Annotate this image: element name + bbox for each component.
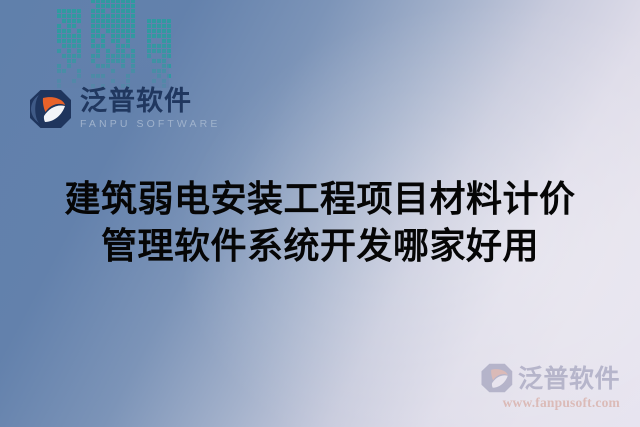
skyline-pixel [62,34,66,38]
skyline-pixel [131,74,135,78]
skyline-pixel [162,19,166,23]
skyline-pixel [121,59,125,63]
skyline-pixel [96,9,100,13]
skyline-pixel [116,59,120,63]
skyline-pixel [167,34,171,38]
skyline-pixel [147,34,151,38]
skyline-pixel [106,29,110,33]
watermark-url: www.fanpusoft.com [480,395,620,411]
skyline-pixel [126,39,130,43]
skyline-pixel [147,69,151,73]
skyline-pixel [77,39,81,43]
skyline-pixel [162,34,166,38]
skyline-pixel [152,49,156,53]
skyline-pixel [67,19,71,23]
skyline-pixel [106,54,110,58]
skyline-pixel [67,64,71,68]
skyline-pixel [147,19,151,23]
watermark-name-cn: 泛普软件 [518,366,620,391]
skyline-pixel [116,14,120,18]
skyline-pixel [96,49,100,53]
skyline-pixel [116,39,120,43]
skyline-pixel [77,44,81,48]
skyline-pixel [121,19,125,23]
skyline-pixel [111,39,115,43]
skyline-pixel [101,34,105,38]
skyline-pixel [57,79,61,83]
skyline-pixel [106,24,110,28]
skyline-pixel [167,54,171,58]
skyline-pixel [126,34,130,38]
headline-block: 建筑弱电安装工程项目材料计价 管理软件系统开发哪家好用 [0,176,640,270]
skyline-pixel [121,79,125,83]
skyline-pixel [131,69,135,73]
skyline-pixel [106,59,110,63]
skyline-pixel [126,64,130,68]
skyline-pixel [147,44,151,48]
skyline-pixel [131,14,135,18]
skyline-pixel [147,59,151,63]
skyline-pixel [101,44,105,48]
skyline-pixel [57,64,61,68]
skyline-pixel [57,29,61,33]
skyline-pixel [62,9,66,13]
skyline-pixel [126,4,130,8]
skyline-pixel [96,29,100,33]
skyline-pixel [106,34,110,38]
skyline-pixel [111,14,115,18]
skyline-pixel [162,79,166,83]
skyline-pixel [77,69,81,73]
skyline-pixel [131,29,135,33]
skyline-pixel [96,69,100,73]
watermark-logo-row: 泛普软件 [480,363,620,393]
skyline-pixel [101,49,105,53]
skyline-pixel [121,9,125,13]
skyline-pixel [157,19,161,23]
skyline-pixel [167,29,171,33]
skyline-pixel [101,14,105,18]
skyline-pixel [67,14,71,18]
skyline-pixel [116,49,120,53]
skyline-pixel [111,74,115,78]
headline-line-2: 管理软件系统开发哪家好用 [0,223,640,270]
skyline-pixel [67,29,71,33]
skyline-pixel [111,49,115,53]
skyline-pixel [106,79,110,83]
skyline-pixel [77,74,81,78]
skyline-pixel [57,54,61,58]
skyline-pixel [57,59,61,63]
skyline-pixel [121,24,125,28]
brand-wordmark: 泛普软件 FANPU SOFTWARE [80,88,220,130]
skyline-pixel [157,39,161,43]
skyline-pixel [162,64,166,68]
skyline-pixel [111,34,115,38]
skyline-pixel [116,44,120,48]
skyline-pixel [116,54,120,58]
skyline-pixel [126,24,130,28]
skyline-pixel [131,79,135,83]
skyline-pixel [62,14,66,18]
skyline-pixel [72,19,76,23]
skyline-pixel [106,64,110,68]
skyline-pixel [91,54,95,58]
skyline-pixel [157,29,161,33]
skyline-pixel [121,64,125,68]
skyline-pixel [126,49,130,53]
skyline-pixel [106,9,110,13]
skyline-pixel [152,54,156,58]
skyline-pixel [111,44,115,48]
skyline-pixel [72,44,76,48]
skyline-pixel [126,69,130,73]
pixel-skyline-icon [57,0,169,88]
skyline-pixel [121,4,125,8]
skyline-pixel [91,74,95,78]
skyline-pixel [162,44,166,48]
skyline-pixel [72,14,76,18]
brand-logo: 泛普软件 FANPU SOFTWARE [28,88,220,130]
skyline-pixel [96,64,100,68]
skyline-pixel [111,19,115,23]
skyline-pixel [91,34,95,38]
skyline-pixel [111,24,115,28]
skyline-pixel [96,19,100,23]
skyline-pixel [106,44,110,48]
skyline-pixel [162,29,166,33]
skyline-pixel [157,79,161,83]
skyline-pixel [152,24,156,28]
skyline-pixel [77,19,81,23]
skyline-pixel [91,79,95,83]
skyline-pixel [96,14,100,18]
skyline-pixel [157,69,161,73]
skyline-pixel [62,64,66,68]
skyline-pixel [131,59,135,63]
skyline-pixel [147,39,151,43]
skyline-pixel [147,24,151,28]
skyline-pixel [126,59,130,63]
brand-name-cn: 泛普软件 [80,88,220,115]
skyline-pixel [96,4,100,8]
skyline-pixel [126,9,130,13]
skyline-pixel [131,64,135,68]
skyline-pixel [126,74,130,78]
skyline-pixel [157,44,161,48]
skyline-pixel [91,0,95,3]
skyline-pixel [72,59,76,63]
skyline-pixel [106,4,110,8]
skyline-pixel [162,54,166,58]
skyline-pixel [77,14,81,18]
skyline-pixel [121,54,125,58]
skyline-pixel [147,64,151,68]
skyline-pixel [116,79,120,83]
skyline-pixel [131,4,135,8]
skyline-pixel [106,49,110,53]
watermark: 泛普软件 www.fanpusoft.com [480,363,620,411]
skyline-pixel [91,64,95,68]
skyline-pixel [147,49,151,53]
skyline-pixel [57,49,61,53]
skyline-pixel [167,69,171,73]
skyline-pixel [126,44,130,48]
skyline-pixel [96,0,100,3]
skyline-pixel [101,9,105,13]
promotional-banner: 泛普软件 FANPU SOFTWARE 建筑弱电安装工程项目材料计价 管理软件系… [0,0,640,427]
skyline-pixel [116,34,120,38]
skyline-pixel [152,34,156,38]
skyline-pixel [131,24,135,28]
skyline-pixel [131,49,135,53]
skyline-pixel [77,24,81,28]
skyline-pixel [57,39,61,43]
skyline-pixel [116,0,120,3]
skyline-pixel [157,64,161,68]
skyline-pixel [116,19,120,23]
skyline-pixel [67,59,71,63]
skyline-pixel [91,29,95,33]
skyline-tower-left [57,9,85,88]
skyline-pixel [91,24,95,28]
skyline-pixel [96,39,100,43]
skyline-pixel [62,29,66,33]
skyline-pixel [167,79,171,83]
skyline-pixel [57,9,61,13]
skyline-pixel [106,39,110,43]
skyline-pixel [162,59,166,63]
skyline-pixel [152,64,156,68]
skyline-pixel [77,9,81,13]
skyline-pixel [67,24,71,28]
skyline-pixel [167,74,171,78]
skyline-pixel [77,79,81,83]
skyline-pixel [62,74,66,78]
skyline-pixel [67,69,71,73]
skyline-pixel [106,14,110,18]
skyline-pixel [131,54,135,58]
skyline-pixel [157,54,161,58]
skyline-pixel [72,54,76,58]
skyline-pixel [57,14,61,18]
skyline-pixel [111,64,115,68]
brand-name-en: FANPU SOFTWARE [80,119,220,130]
skyline-pixel [157,34,161,38]
skyline-pixel [131,39,135,43]
skyline-pixel [101,69,105,73]
skyline-pixel [147,29,151,33]
skyline-pixel [77,34,81,38]
skyline-pixel [167,64,171,68]
skyline-pixel [152,29,156,33]
skyline-pixel [77,29,81,33]
skyline-pixel [157,49,161,53]
fanpu-hexagon-logo-icon [480,363,513,393]
skyline-pixel [131,9,135,13]
skyline-pixel [157,24,161,28]
skyline-pixel [96,34,100,38]
skyline-pixel [131,19,135,23]
skyline-pixel [167,59,171,63]
skyline-pixel [72,39,76,43]
skyline-pixel [111,79,115,83]
skyline-pixel [57,69,61,73]
skyline-pixel [116,4,120,8]
skyline-pixel [106,19,110,23]
skyline-pixel [62,39,66,43]
skyline-pixel [126,0,130,3]
skyline-pixel [101,24,105,28]
skyline-pixel [162,24,166,28]
skyline-pixel [101,19,105,23]
skyline-pixel [116,64,120,68]
skyline-pixel [77,49,81,53]
skyline-pixel [62,79,66,83]
skyline-pixel [62,69,66,73]
skyline-pixel [91,4,95,8]
skyline-pixel [77,54,81,58]
skyline-pixel [116,9,120,13]
skyline-pixel [67,34,71,38]
skyline-pixel [121,29,125,33]
skyline-pixel [101,59,105,63]
skyline-pixel [116,69,120,73]
skyline-pixel [126,29,130,33]
headline-line-1: 建筑弱电安装工程项目材料计价 [0,176,640,223]
skyline-pixel [111,54,115,58]
skyline-pixel [57,74,61,78]
skyline-pixel [62,59,66,63]
skyline-pixel [131,34,135,38]
skyline-pixel [121,69,125,73]
skyline-pixel [167,19,171,23]
skyline-pixel [121,49,125,53]
skyline-pixel [67,74,71,78]
skyline-pixel [57,34,61,38]
skyline-pixel [96,74,100,78]
skyline-pixel [96,59,100,63]
skyline-pixel [67,44,71,48]
skyline-pixel [72,34,76,38]
skyline-pixel [152,19,156,23]
skyline-pixel [101,54,105,58]
skyline-pixel [167,49,171,53]
skyline-pixel [111,29,115,33]
skyline-pixel [162,39,166,43]
skyline-pixel [152,69,156,73]
skyline-pixel [101,29,105,33]
skyline-pixel [152,74,156,78]
skyline-pixel [126,19,130,23]
skyline-pixel [91,19,95,23]
skyline-pixel [91,9,95,13]
skyline-pixel [106,0,110,3]
skyline-pixel [121,0,125,3]
skyline-pixel [77,59,81,63]
skyline-pixel [62,49,66,53]
fanpu-hexagon-logo-icon [28,89,72,129]
skyline-pixel [91,69,95,73]
skyline-pixel [91,14,95,18]
skyline-pixel [126,14,130,18]
skyline-pixel [106,69,110,73]
skyline-pixel [62,24,66,28]
skyline-pixel [72,69,76,73]
skyline-pixel [96,54,100,58]
skyline-pixel [147,54,151,58]
skyline-pixel [72,29,76,33]
skyline-pixel [121,14,125,18]
skyline-pixel [111,4,115,8]
skyline-pixel [101,39,105,43]
skyline-pixel [91,49,95,53]
skyline-pixel [111,69,115,73]
skyline-pixel [67,79,71,83]
skyline-pixel [106,74,110,78]
skyline-pixel [126,54,130,58]
skyline-pixel [67,49,71,53]
skyline-pixel [72,24,76,28]
skyline-pixel [167,39,171,43]
skyline-pixel [67,54,71,58]
skyline-pixel [152,44,156,48]
skyline-pixel [57,44,61,48]
skyline-pixel [111,9,115,13]
skyline-pixel [62,54,66,58]
skyline-pixel [116,29,120,33]
skyline-pixel [116,24,120,28]
skyline-pixel [101,74,105,78]
skyline-pixel [67,9,71,13]
skyline-pixel [62,44,66,48]
skyline-pixel [72,74,76,78]
skyline-pixel [62,19,66,23]
skyline-pixel [157,74,161,78]
skyline-pixel [101,64,105,68]
skyline-pixel [111,59,115,63]
skyline-tower-center [91,0,142,88]
skyline-pixel [147,79,151,83]
skyline-pixel [121,44,125,48]
skyline-pixel [96,44,100,48]
skyline-pixel [157,59,161,63]
skyline-pixel [72,64,76,68]
skyline-pixel [96,79,100,83]
skyline-pixel [101,79,105,83]
skyline-pixel [96,24,100,28]
skyline-pixel [57,24,61,28]
skyline-pixel [101,0,105,3]
skyline-pixel [121,39,125,43]
skyline-pixel [121,34,125,38]
skyline-pixel [152,59,156,63]
skyline-pixel [72,49,76,53]
skyline-pixel [131,44,135,48]
skyline-pixel [152,39,156,43]
skyline-pixel [101,4,105,8]
skyline-pixel [91,59,95,63]
skyline-tower-right [147,19,175,88]
skyline-pixel [167,24,171,28]
skyline-pixel [72,79,76,83]
skyline-pixel [147,74,151,78]
skyline-pixel [162,69,166,73]
skyline-pixel [162,49,166,53]
skyline-pixel [162,74,166,78]
skyline-pixel [152,79,156,83]
skyline-pixel [91,44,95,48]
